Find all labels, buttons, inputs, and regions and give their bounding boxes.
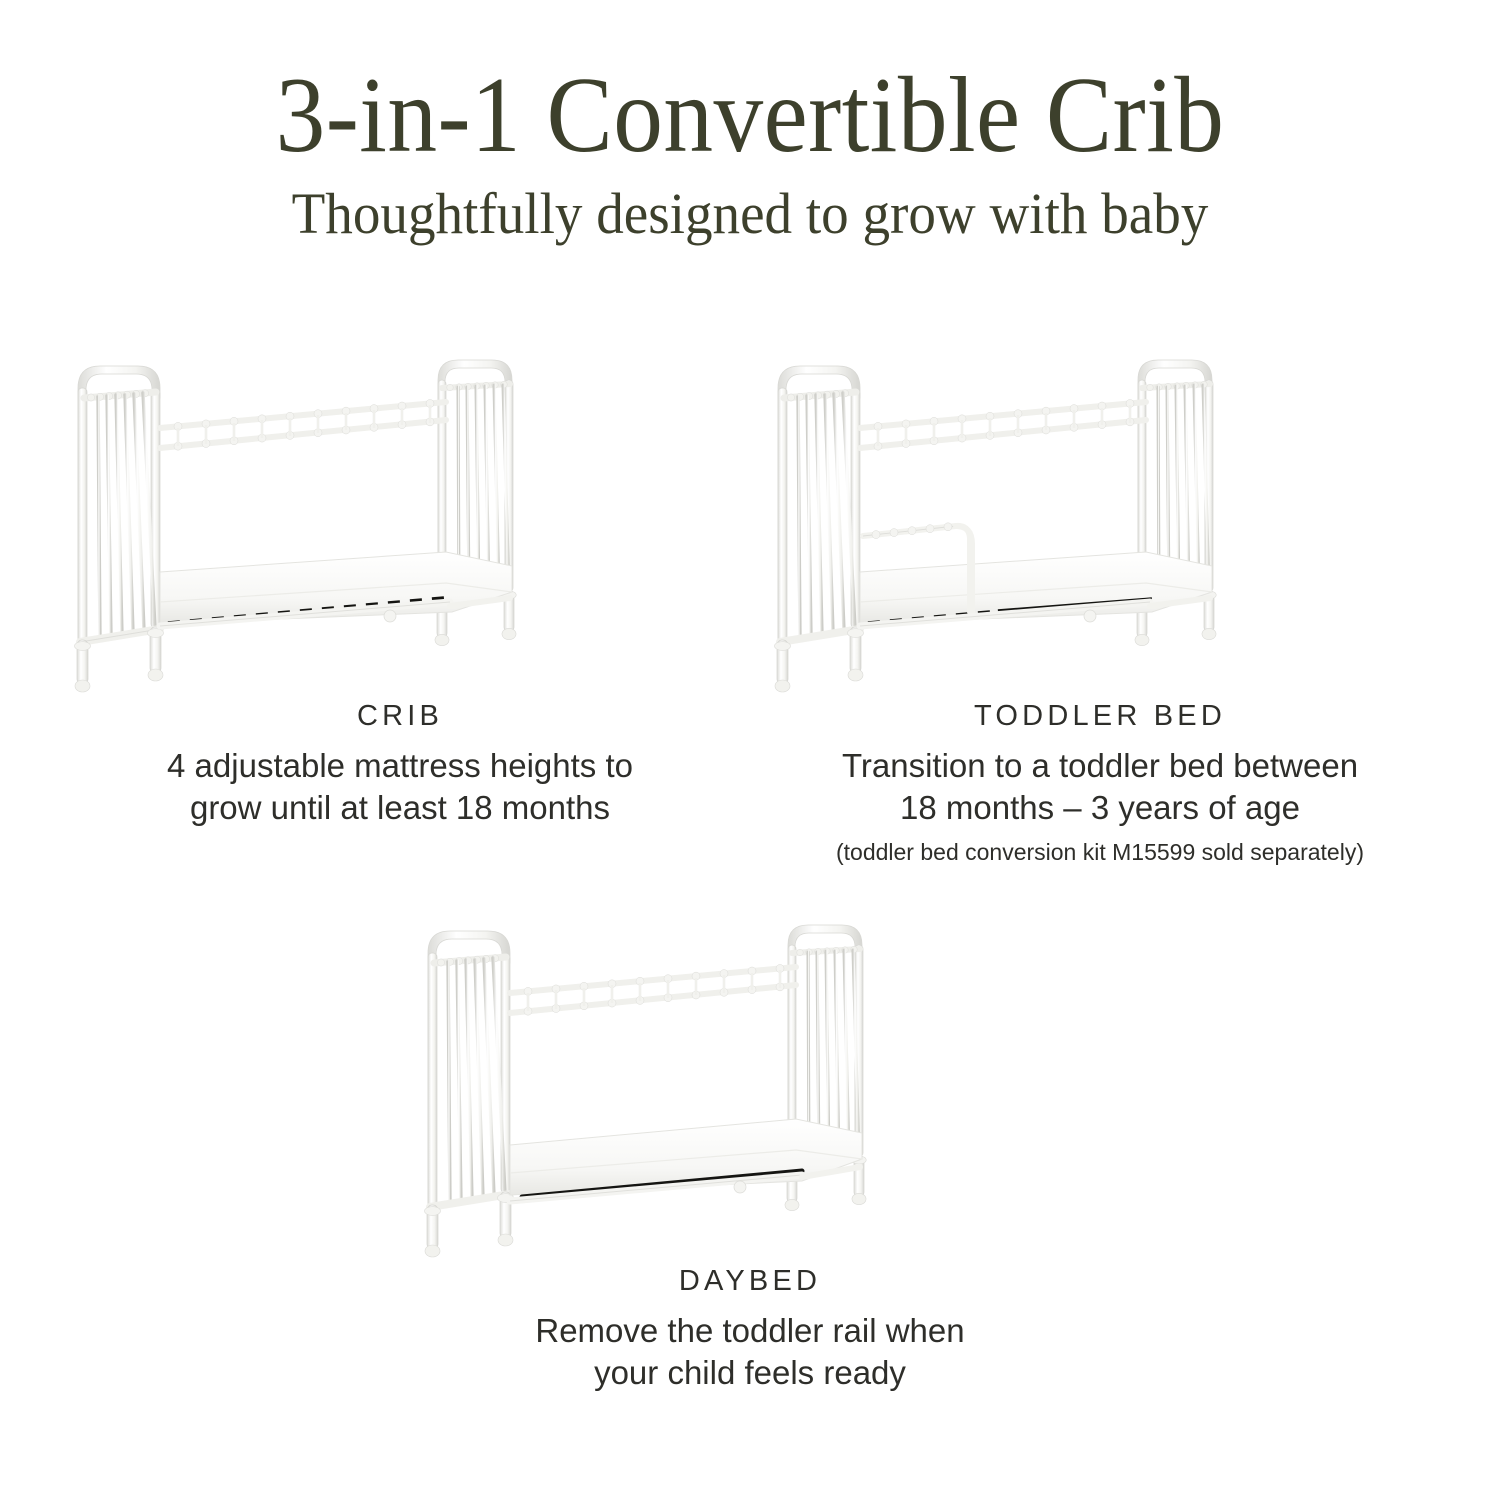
panel-toddler-label: TODDLER BED: [760, 700, 1440, 733]
panel-daybed: DAYBED Remove the toddler rail when your…: [410, 905, 1090, 1394]
daybed-illustration: [410, 905, 1090, 1265]
toddler-bed-illustration: [760, 340, 1440, 700]
crib-illustration: [60, 340, 740, 700]
panel-toddler-bed: TODDLER BED Transition to a toddler bed …: [760, 340, 1440, 868]
panel-daybed-description: Remove the toddler rail when your child …: [410, 1310, 1090, 1394]
panel-crib: CRIB 4 adjustable mattress heights to gr…: [60, 340, 740, 829]
page-title: 3-in-1 Convertible Crib: [60, 62, 1440, 170]
header: 3-in-1 Convertible Crib Thoughtfully des…: [0, 62, 1500, 245]
infographic-page: 3-in-1 Convertible Crib Thoughtfully des…: [0, 0, 1500, 1500]
panel-crib-label: CRIB: [60, 700, 740, 733]
page-subtitle: Thoughtfully designed to grow with baby: [38, 184, 1463, 245]
panel-toddler-note: (toddler bed conversion kit M15599 sold …: [760, 838, 1440, 868]
panel-daybed-label: DAYBED: [410, 1265, 1090, 1298]
panel-toddler-description: Transition to a toddler bed between 18 m…: [760, 745, 1440, 829]
panel-crib-description: 4 adjustable mattress heights to grow un…: [60, 745, 740, 829]
